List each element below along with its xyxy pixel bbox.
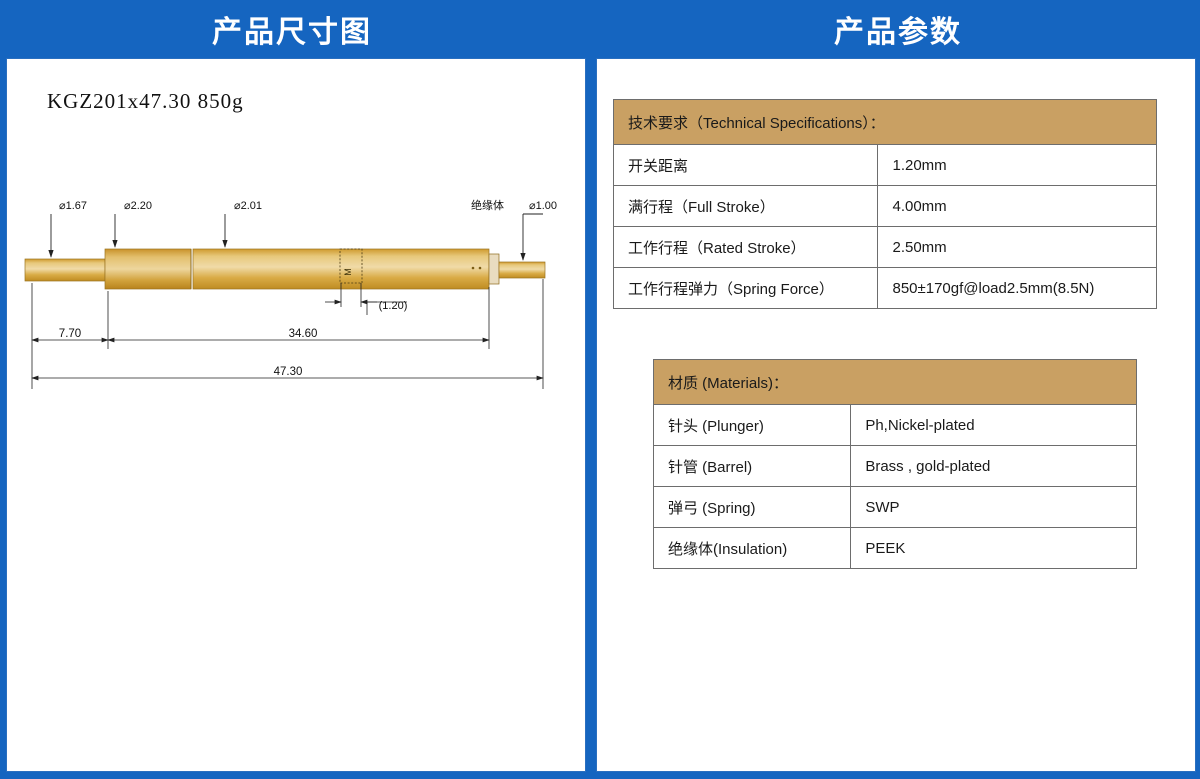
tech-row-2-value: 2.50mm xyxy=(878,227,1157,268)
table-row: 绝缘体(Insulation) PEEK xyxy=(654,528,1137,569)
table-row: 开关距离 1.20mm xyxy=(614,145,1157,186)
table-row: 满行程（Full Stroke） 4.00mm xyxy=(614,186,1157,227)
label-diameter-220: ⌀2.20 xyxy=(124,200,152,212)
label-dim-770: 7.70 xyxy=(59,328,81,340)
materials-table: 材质 (Materials)： 针头 (Plunger) Ph,Nickel-p… xyxy=(653,359,1137,569)
tech-row-3-name: 工作行程弹力（Spring Force） xyxy=(614,268,878,309)
table-row: 针头 (Plunger) Ph,Nickel-plated xyxy=(654,405,1137,446)
label-stroke-120: (1.20) xyxy=(379,300,408,312)
table-row: 工作行程弹力（Spring Force） 850±170gf@load2.5mm… xyxy=(614,268,1157,309)
svg-text:M: M xyxy=(343,268,353,276)
material-row-1-name: 针管 (Barrel) xyxy=(654,446,851,487)
tech-row-0-value: 1.20mm xyxy=(878,145,1157,186)
technical-specifications-table: 技术要求（Technical Specifications）： 开关距离 1.2… xyxy=(613,99,1157,309)
table-header-row: 材质 (Materials)： xyxy=(654,360,1137,405)
label-diameter-100: ⌀1.00 xyxy=(529,200,557,212)
page-root: 产品尺寸图 产品参数 KGZ201x47.30 850g xyxy=(0,0,1200,779)
materials-table-header: 材质 (Materials)： xyxy=(654,360,1137,405)
label-dim-3460: 34.60 xyxy=(289,328,318,340)
probe-left-plunger xyxy=(25,259,105,281)
drawing-area: M ⌀1.67 ⌀2.20 xyxy=(7,59,585,419)
tech-row-0-name: 开关距离 xyxy=(614,145,878,186)
tech-row-2-name: 工作行程（Rated Stroke） xyxy=(614,227,878,268)
tech-row-1-value: 4.00mm xyxy=(878,186,1157,227)
material-row-1-value: Brass , gold-plated xyxy=(851,446,1137,487)
table-row: 工作行程（Rated Stroke） 2.50mm xyxy=(614,227,1157,268)
right-panel-title: 产品参数 xyxy=(596,0,1200,58)
material-row-2-value: SWP xyxy=(851,487,1137,528)
table-header-row: 技术要求（Technical Specifications）： xyxy=(614,100,1157,145)
material-row-3-value: PEEK xyxy=(851,528,1137,569)
material-row-2-name: 弹弓 (Spring) xyxy=(654,487,851,528)
tech-row-3-value: 850±170gf@load2.5mm(8.5N) xyxy=(878,268,1157,309)
probe-drawing-svg: M ⌀1.67 ⌀2.20 xyxy=(7,59,585,419)
label-diameter-167: ⌀1.67 xyxy=(59,200,87,212)
label-insulation: 绝缘体 xyxy=(471,198,504,212)
label-dim-4730: 47.30 xyxy=(274,366,303,378)
dimension-drawing-panel: KGZ201x47.30 850g xyxy=(6,58,586,772)
material-row-3-name: 绝缘体(Insulation) xyxy=(654,528,851,569)
table-row: 弹弓 (Spring) SWP xyxy=(654,487,1137,528)
probe-barrel xyxy=(105,249,489,289)
label-diameter-201: ⌀2.01 xyxy=(234,200,262,212)
parameters-panel: 技术要求（Technical Specifications）： 开关距离 1.2… xyxy=(596,58,1196,772)
left-panel-title: 产品尺寸图 xyxy=(0,0,584,58)
material-row-0-value: Ph,Nickel-plated xyxy=(851,405,1137,446)
table-row: 针管 (Barrel) Brass , gold-plated xyxy=(654,446,1137,487)
material-row-0-name: 针头 (Plunger) xyxy=(654,405,851,446)
tech-table-header: 技术要求（Technical Specifications）： xyxy=(614,100,1157,145)
tech-row-1-name: 满行程（Full Stroke） xyxy=(614,186,878,227)
